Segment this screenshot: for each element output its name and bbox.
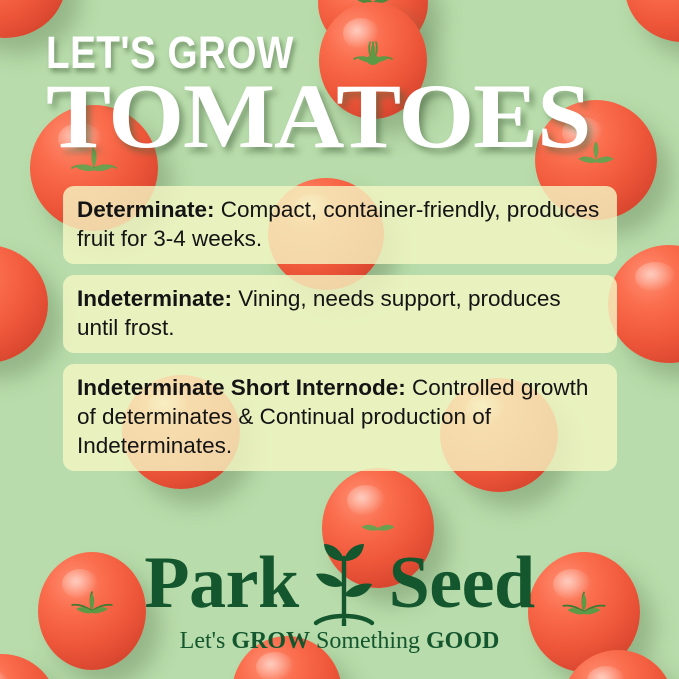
tomato-calyx-icon xyxy=(0,0,33,8)
tagline-part-good: GOOD xyxy=(426,628,499,654)
headline-block: LET'S GROW TOMATOES xyxy=(46,30,560,160)
brand-word-park: Park xyxy=(144,546,298,620)
headline-title: TOMATOES xyxy=(46,72,590,160)
brand-logo: Park Seed xyxy=(0,540,679,654)
tagline-part-something: Something xyxy=(310,628,426,654)
tomato-calyx-icon xyxy=(262,667,313,679)
poster-canvas: LET'S GROW TOMATOES Determinate: Compact… xyxy=(0,0,679,679)
info-card-list: Determinate: Compact, container-friendly… xyxy=(63,186,617,471)
info-card-determinate: Determinate: Compact, container-friendly… xyxy=(63,186,617,264)
tagline-part-grow: GROW xyxy=(231,628,310,654)
tomato-icon xyxy=(608,245,679,363)
brand-word-seed: Seed xyxy=(389,546,535,620)
info-card-term: Indeterminate: xyxy=(77,286,232,311)
brand-logo-row: Park Seed xyxy=(0,540,679,626)
info-card-indeterminate-short-internode: Indeterminate Short Internode: Controlle… xyxy=(63,364,617,471)
info-card-term: Indeterminate Short Internode: xyxy=(77,375,406,400)
tomato-icon xyxy=(625,0,679,42)
brand-tagline: Let's GROW Something GOOD xyxy=(0,628,679,654)
tomato-icon xyxy=(0,654,58,679)
info-card-indeterminate: Indeterminate: Vining, needs support, pr… xyxy=(63,275,617,353)
sprout-icon xyxy=(307,540,381,626)
info-card-term: Determinate: xyxy=(77,197,215,222)
tagline-part-lets: Let's xyxy=(180,628,232,654)
tomato-icon xyxy=(0,245,48,363)
tomato-calyx-icon xyxy=(656,0,679,13)
